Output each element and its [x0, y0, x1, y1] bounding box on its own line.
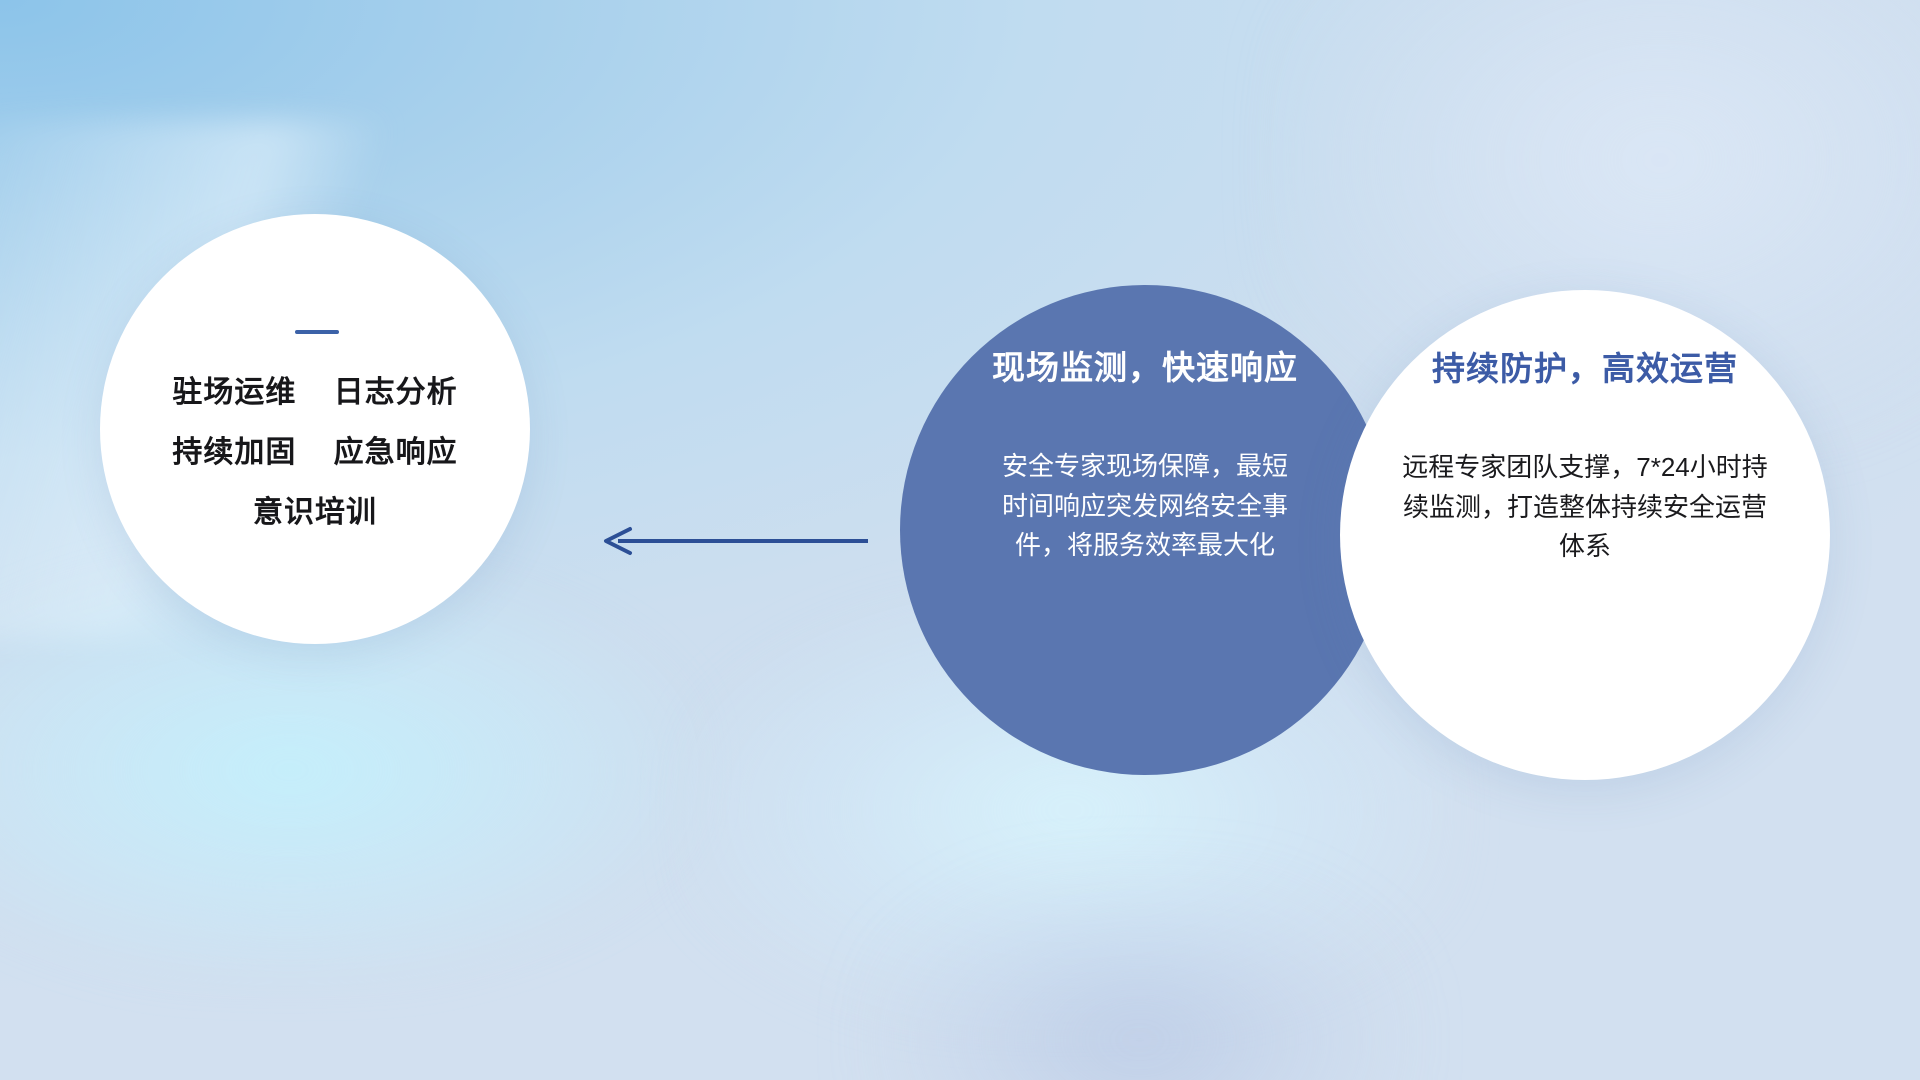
flow-arrow-icon [600, 524, 870, 558]
service-line-3: 意识培训 [172, 498, 457, 528]
right-circle-heading: 持续防护，高效运营 [1432, 342, 1738, 390]
accent-dash-divider [295, 330, 339, 334]
circle-node-continuous-protection[interactable]: 持续防护，高效运营 远程专家团队支撑，7*24小时持续监测，打造整体持续安全运营… [1340, 290, 1830, 780]
background-glow-shadow [880, 880, 1400, 1080]
service-list: 驻场运维 日志分析 持续加固 应急响应 意识培训 [172, 378, 457, 528]
center-circle-heading: 现场监测，快速响应 [992, 341, 1298, 389]
circle-node-onsite-monitoring[interactable]: 现场监测，快速响应 安全专家现场保障，最短时间响应突发网络安全事件，将服务效率最… [900, 285, 1390, 775]
service-line-2: 持续加固 应急响应 [172, 438, 457, 468]
right-circle-body: 远程专家团队支撑，7*24小时持续监测，打造整体持续安全运营体系 [1393, 448, 1777, 567]
service-line-1: 驻场运维 日志分析 [172, 378, 457, 408]
center-circle-body: 安全专家现场保障，最短时间响应突发网络安全事件，将服务效率最大化 [995, 447, 1295, 566]
circle-node-services[interactable]: 驻场运维 日志分析 持续加固 应急响应 意识培训 [100, 214, 530, 644]
